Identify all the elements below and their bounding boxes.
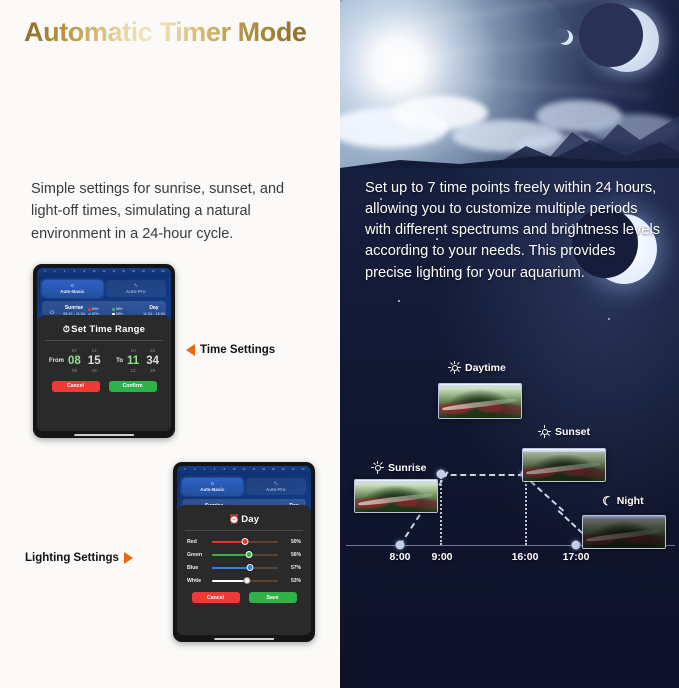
tab-auto-basic[interactable]: ☼ Auto-Basic [182, 478, 243, 495]
to-hour-value: 11 [127, 355, 139, 367]
small-moon-icon [558, 30, 573, 45]
from-hour-value: 08 [68, 355, 81, 367]
to-hour-next: 12 [127, 367, 139, 376]
slider-blue-value: 57% [283, 565, 301, 571]
ruler-tick: 4 [200, 469, 210, 472]
slider-row-blue[interactable]: Blue 57% [185, 561, 303, 574]
ruler-tick: 4 [60, 271, 70, 274]
hour-ruler: 0 2 4 6 8 10 12 14 16 18 20 22 24 [177, 466, 311, 475]
dialog-title: Set Time Range [71, 324, 145, 335]
sun-icon: ☼ [210, 481, 216, 487]
point-8-00[interactable] [396, 541, 405, 550]
tank-preview-daytime [438, 383, 522, 419]
set-time-range-dialog: ⏱Set Time Range From 07 08 09 [37, 315, 171, 431]
home-indicator [214, 638, 274, 640]
wave-icon: ∿ [133, 283, 138, 289]
timeline-diagram: 8:00 9:00 16:00 17:00 Sunrise [340, 355, 679, 585]
label-daytime: Daytime [448, 361, 506, 374]
tab-auto-basic-label: Auto-Basic [200, 488, 224, 493]
sunrise-sun-icon [371, 461, 384, 474]
sky-photo [340, 0, 679, 168]
ruler-tick: 2 [190, 469, 200, 472]
triangle-left-icon [186, 344, 195, 356]
wave-icon: ∿ [273, 481, 278, 487]
label-sunset: Sunset [538, 425, 590, 438]
swatch-green-value: 56% [116, 307, 122, 311]
tablet-time-settings: 0 2 4 6 8 10 12 14 16 18 20 22 24 ☼ [33, 264, 175, 438]
tick-label-9: 9:00 [431, 551, 452, 563]
ruler-tick: 6 [210, 469, 220, 472]
ruler-tick: 14 [249, 469, 259, 472]
callout-time-settings-label: Time Settings [200, 344, 275, 356]
ruler-tick: 20 [138, 271, 148, 274]
to-min-value: 34 [146, 355, 159, 367]
slider-red-value: 50% [283, 539, 301, 545]
from-hour-wheel[interactable]: 07 08 09 [68, 347, 81, 376]
ruler-tick: 12 [99, 271, 109, 274]
from-hour-next: 09 [68, 367, 81, 376]
ruler-tick: 16 [119, 271, 129, 274]
tank-preview-night [582, 515, 666, 549]
ruler-tick: 0 [180, 469, 190, 472]
sunset-sun-icon [538, 425, 551, 438]
swatch-red: 50% [88, 307, 110, 311]
time-picker: From 07 08 09 14 15 16 [45, 345, 163, 376]
dropline-9 [440, 477, 444, 545]
to-min-next: 35 [146, 367, 159, 376]
slider-row-green[interactable]: Green 56% [185, 548, 303, 561]
lighting-dialog: ⏰Day Red 50% Green [177, 505, 311, 635]
tank-preview-sunrise [354, 479, 438, 513]
dialog-buttons: Cancel Confirm [45, 376, 163, 392]
point-9-00[interactable] [437, 470, 446, 479]
ruler-tick: 6 [70, 271, 80, 274]
tab-auto-basic-label: Auto-Basic [60, 290, 84, 295]
tablet-time-screen: 0 2 4 6 8 10 12 14 16 18 20 22 24 ☼ [37, 268, 171, 431]
slider-green-track[interactable] [212, 550, 278, 559]
ruler-tick: 14 [109, 271, 119, 274]
slider-row-red[interactable]: Red 50% [185, 535, 303, 548]
swatch-green: 56% [112, 307, 134, 311]
dropline-16 [525, 477, 529, 545]
ruler-tick: 0 [40, 271, 50, 274]
ruler-tick: 16 [259, 469, 269, 472]
slider-blue-label: Blue [187, 565, 207, 571]
tab-auto-pro-label: Auto-Pro [126, 290, 146, 295]
dialog-title-row: ⏰Day [185, 511, 303, 530]
ruler-tick: 10 [229, 469, 239, 472]
moon-icon: ☾ [601, 494, 614, 508]
to-hour-wheel[interactable]: 10 11 12 [127, 347, 139, 376]
page-root: Automatic Timer Mode Simple settings for… [0, 0, 679, 688]
ruler-tick: 22 [288, 469, 298, 472]
confirm-button[interactable]: Confirm [109, 381, 157, 392]
label-night: ☾ Night [602, 495, 644, 507]
slider-white-track[interactable] [212, 576, 278, 585]
slider-white-value: 53% [283, 578, 301, 584]
tick-label-8: 8:00 [389, 551, 410, 563]
tab-auto-pro[interactable]: ∿ Auto-Pro [246, 478, 307, 495]
label-daytime-text: Daytime [465, 362, 506, 374]
save-button[interactable]: Save [249, 592, 297, 603]
mode-tabbar: ☼ Auto-Basic ∿ Auto-Pro [177, 475, 311, 499]
dialog-title-row: ⏱Set Time Range [45, 321, 163, 340]
left-panel: Automatic Timer Mode Simple settings for… [0, 0, 340, 688]
to-minute-wheel[interactable]: 33 34 35 [146, 347, 159, 376]
from-group: From 07 08 09 14 15 16 [49, 347, 101, 376]
cancel-button[interactable]: Cancel [52, 381, 100, 392]
sun-icon: ☼ [70, 283, 76, 289]
tank-preview-sunset [522, 448, 606, 482]
right-paragraph: Set up to 7 time points freely within 24… [365, 178, 665, 284]
clock-icon: ⏰ [229, 514, 240, 524]
slider-green-value: 56% [283, 552, 301, 558]
from-min-value: 15 [88, 355, 101, 367]
ruler-tick: 18 [269, 469, 279, 472]
tablet-lighting-settings: 0 2 4 6 8 10 12 14 16 18 20 22 24 ☼ [173, 462, 315, 642]
hour-ruler: 0 2 4 6 8 10 12 14 16 18 20 22 24 [37, 268, 171, 277]
dialog-title: Day [241, 514, 259, 525]
ruler-tick: 20 [278, 469, 288, 472]
label-sunrise-text: Sunrise [388, 462, 427, 474]
ruler-tick: 12 [239, 469, 249, 472]
slider-blue-track[interactable] [212, 563, 278, 572]
slider-green-label: Green [187, 552, 207, 558]
slider-white-label: White [187, 578, 207, 584]
ruler-tick: 24 [298, 469, 308, 472]
tick-label-17: 17:00 [563, 551, 590, 563]
tab-auto-pro[interactable]: ∿ Auto-Pro [106, 280, 167, 297]
callout-time-settings: Time Settings [186, 344, 275, 356]
from-label: From [49, 358, 64, 364]
label-sunset-text: Sunset [555, 426, 590, 438]
mode-tabbar: ☼ Auto-Basic ∿ Auto-Pro [37, 277, 171, 301]
to-group: To 10 11 12 33 34 35 [116, 347, 159, 376]
ruler-tick: 24 [158, 271, 168, 274]
clock-icon: ⏱ [63, 324, 70, 334]
sun-icon [448, 361, 461, 374]
slider-row-white[interactable]: White 53% [185, 574, 303, 587]
tab-auto-pro-label: Auto-Pro [266, 488, 286, 493]
mountain-silhouette [340, 106, 679, 168]
tab-auto-basic[interactable]: ☼ Auto-Basic [42, 280, 103, 297]
from-min-next: 16 [88, 367, 101, 376]
slider-red-track[interactable] [212, 537, 278, 546]
callout-lighting-settings-label: Lighting Settings [25, 552, 119, 564]
label-sunrise: Sunrise [371, 461, 427, 474]
triangle-right-icon [124, 552, 133, 564]
segment-daytime-plateau [441, 474, 524, 476]
slider-red-label: Red [187, 539, 207, 545]
to-label: To [116, 358, 123, 364]
right-panel: Set up to 7 time points freely within 24… [340, 0, 679, 688]
callout-lighting-settings: Lighting Settings [25, 552, 133, 564]
point-17-00[interactable] [572, 541, 581, 550]
cancel-button[interactable]: Cancel [192, 592, 240, 603]
home-indicator [74, 434, 134, 436]
intro-paragraph: Simple settings for sunrise, sunset, and… [31, 178, 307, 245]
divider [45, 340, 163, 341]
label-night-text: Night [617, 495, 644, 507]
tick-label-16: 16:00 [512, 551, 539, 563]
ruler-tick: 10 [89, 271, 99, 274]
page-title: Automatic Timer Mode [24, 17, 307, 48]
ruler-tick: 18 [129, 271, 139, 274]
tablet-light-screen: 0 2 4 6 8 10 12 14 16 18 20 22 24 ☼ [177, 466, 311, 635]
dialog-buttons: Cancel Save [185, 587, 303, 603]
divider [185, 530, 303, 531]
ruler-tick: 8 [79, 271, 89, 274]
ruler-tick: 8 [219, 469, 229, 472]
ruler-tick: 2 [50, 271, 60, 274]
swatch-red-value: 50% [92, 307, 98, 311]
crescent-moon-icon [595, 8, 659, 72]
from-minute-wheel[interactable]: 14 15 16 [88, 347, 101, 376]
ruler-tick: 22 [148, 271, 158, 274]
